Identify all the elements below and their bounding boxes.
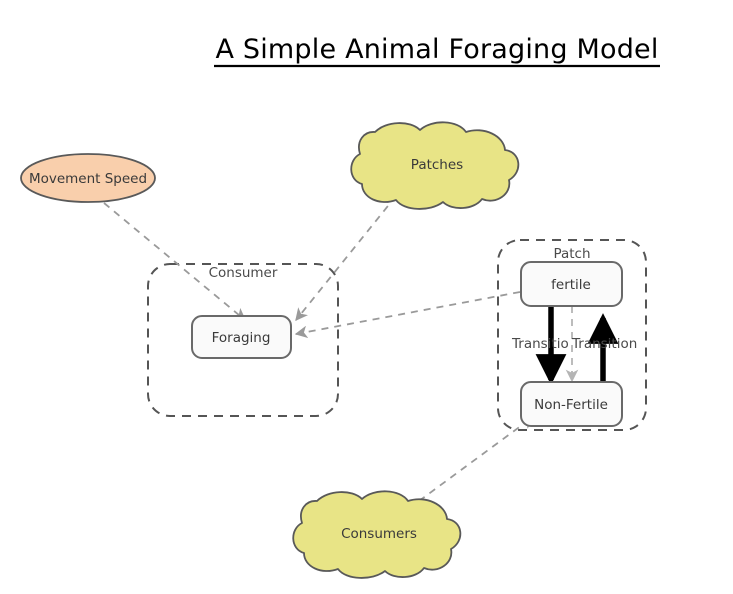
node-fertile[interactable]: fertile (521, 262, 622, 306)
page-title: A Simple Animal Foraging Model (214, 34, 660, 66)
edge-patches-to-foraging[interactable] (296, 196, 396, 320)
container-consumer-label: Consumer (209, 265, 278, 281)
diagram-svg: A Simple Animal Foraging Model Consumer … (0, 0, 733, 594)
node-non-fertile-label: Non-Fertile (534, 397, 608, 413)
edge-label-transition-right: Transition (571, 336, 637, 352)
container-patch-label: Patch (553, 246, 590, 262)
node-movement-speed[interactable]: Movement Speed (21, 154, 155, 202)
diagram-canvas: A Simple Animal Foraging Model Consumer … (0, 0, 733, 594)
node-foraging-label: Foraging (212, 330, 271, 346)
node-consumers-label: Consumers (341, 526, 417, 542)
edge-label-transition-left: Transitio (511, 336, 569, 352)
node-patches-label: Patches (411, 157, 463, 173)
node-foraging[interactable]: Foraging (192, 316, 291, 358)
edge-movement-speed-to-foraging[interactable] (104, 203, 245, 320)
edge-consumers-to-patch[interactable] (419, 417, 533, 501)
node-consumers[interactable]: Consumers (293, 491, 460, 578)
node-fertile-label: fertile (551, 277, 591, 293)
node-non-fertile[interactable]: Non-Fertile (521, 382, 622, 426)
node-movement-speed-label: Movement Speed (29, 171, 147, 187)
node-patches[interactable]: Patches (351, 122, 518, 209)
edge-fertile-to-foraging[interactable] (296, 292, 520, 334)
page-title-text: A Simple Animal Foraging Model (215, 34, 658, 65)
